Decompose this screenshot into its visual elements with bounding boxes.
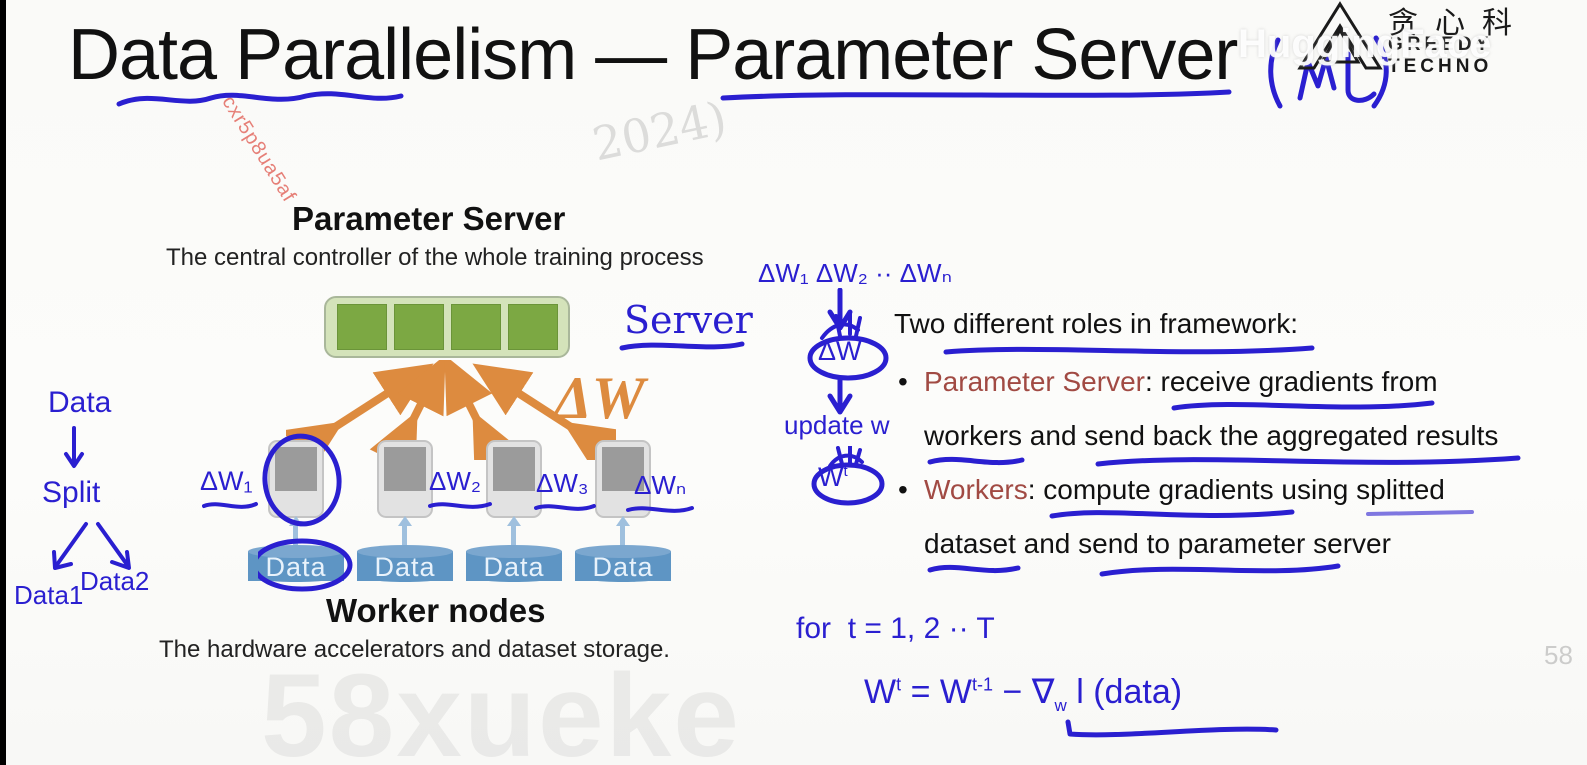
role-desc: receive gradients from [1161, 366, 1438, 397]
ink-underline-wk2 [926, 560, 1356, 580]
ink-gradient-list: ΔW₁ ΔW₂ ·· ΔWₙ [758, 258, 952, 289]
ink-left-data: Data [48, 386, 111, 420]
ink-underline-roles [942, 342, 1342, 360]
ink-server-label: Server [624, 298, 753, 342]
ink-arrow-down-1 [58, 424, 98, 474]
parameter-server-heading: Parameter Server [292, 200, 565, 238]
data-cylinder: Data [466, 545, 562, 587]
role-name: Parameter Server [924, 366, 1145, 397]
ink-delta-w1: ΔW₁ [200, 466, 253, 497]
ink-left-split: Split [42, 476, 100, 510]
role-line-parameter-server: Parameter Server: receive gradients from [924, 366, 1438, 398]
data-arrow-icon [507, 516, 521, 526]
data-cylinder: Data [357, 545, 453, 587]
role-separator: : [1028, 474, 1044, 505]
ink-delta-w2: ΔW₂ [429, 466, 481, 497]
worker-nodes-heading: Worker nodes [326, 592, 545, 630]
worker-node [377, 440, 433, 518]
worker-nodes-subheading: The hardware accelerators and dataset st… [159, 636, 670, 664]
server-cell [337, 304, 387, 350]
ink-circle-weight [804, 446, 890, 508]
ink-delta-w3: ΔW₃ [536, 468, 589, 499]
ink-left-data2: Data2 [80, 566, 149, 597]
role-name: Workers [924, 474, 1028, 505]
watermark-brand: HuggingFace [1238, 22, 1491, 67]
ink-underline-dw1 [202, 498, 262, 518]
ink-underline-dw3 [534, 500, 598, 520]
ink-left-data1: Data1 [14, 580, 83, 611]
bullet-dot: • [898, 366, 908, 398]
ink-underline-wk1 [1048, 506, 1478, 524]
data-label: Data [357, 552, 453, 583]
role-line-workers: Workers: compute gradients using splitte… [924, 474, 1445, 506]
ink-underline-ps1 [1170, 398, 1440, 416]
data-arrow-icon [398, 516, 412, 526]
data-label: Data [466, 552, 562, 583]
worker-screen [493, 447, 535, 491]
role-separator: : [1145, 366, 1161, 397]
ink-underline-formula [1064, 716, 1284, 740]
ink-circle-aggregate [802, 310, 894, 384]
worker-screen [384, 447, 426, 491]
ink-underline-ps2 [926, 452, 1526, 472]
ink-underline-dwn [626, 502, 696, 522]
title-underline-ink [111, 84, 1291, 118]
ink-update-w: update w [784, 410, 890, 441]
data-label: Data [575, 552, 671, 583]
ink-server-underline [618, 338, 748, 356]
server-cell [508, 304, 558, 350]
roles-heading: Two different roles in framework: [894, 308, 1298, 340]
parameter-server-subheading: The central controller of the whole trai… [166, 244, 704, 272]
server-cell [394, 304, 444, 350]
role-line-parameter-server-2: workers and send back the aggregated res… [924, 420, 1498, 452]
bullet-dot: • [898, 474, 908, 506]
watermark-site-big: 58xueke [261, 648, 741, 765]
role-line-workers-2: dataset and send to parameter server [924, 528, 1391, 560]
watermark-site-small: 58 [1544, 640, 1573, 671]
ink-delta-wn: ΔWₙ [634, 470, 686, 501]
server-box [324, 296, 570, 358]
slide-canvas: 58xueke 58 2024) cxr5p8ua5af Data Parall… [0, 0, 1587, 765]
ink-formula-for: for t = 1, 2 ·· T [796, 612, 995, 646]
server-cell [451, 304, 501, 350]
role-desc: compute gradients using splitted [1043, 474, 1445, 505]
ink-underline-dw2 [428, 498, 494, 518]
data-cylinder: Data [575, 545, 671, 587]
ink-formula-update: Wt = Wt-1 − ∇w l (data) [864, 672, 1182, 716]
ink-circle-worker1 [258, 430, 368, 600]
